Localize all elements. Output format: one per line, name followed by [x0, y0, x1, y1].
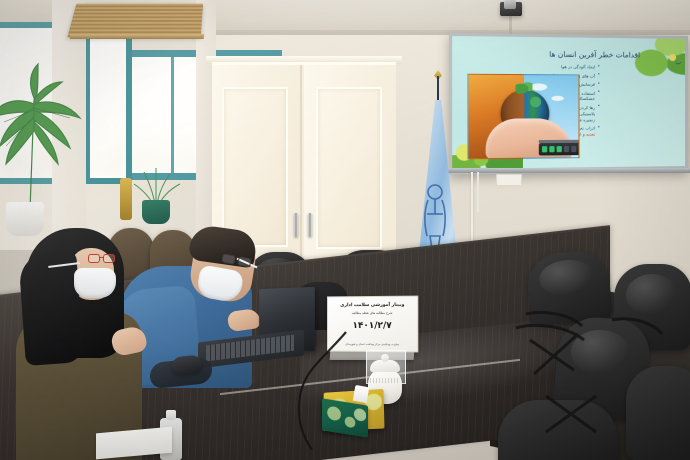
- display-bezel-bottom: [445, 168, 690, 173]
- ceramic-jar-knob: [381, 354, 389, 362]
- mic-button[interactable]: [542, 146, 547, 152]
- chat-button[interactable]: [571, 146, 576, 152]
- camera-button[interactable]: [549, 146, 554, 152]
- slide-photo-earth-in-hand: [467, 74, 579, 160]
- door-handle-left[interactable]: [294, 213, 298, 237]
- participants-button[interactable]: [564, 146, 569, 152]
- plant-pot-white: [6, 202, 44, 236]
- slide-corner-letter: ب: [675, 59, 681, 66]
- slide-bullet: ایجاد آلودگی در هوا: [508, 64, 600, 71]
- leave-button[interactable]: [578, 146, 579, 152]
- door-panel-left: [222, 87, 288, 247]
- display-cable: [471, 172, 473, 246]
- placard-title: وبینار آموزشی سلامت اداری: [328, 303, 417, 309]
- blinds-rail: [70, 34, 205, 39]
- display-cable-secondary: [477, 172, 479, 212]
- door-panel-right: [316, 87, 382, 249]
- desk-lamp: [120, 178, 132, 220]
- woman-eyeglasses: [88, 254, 116, 263]
- wall-outlet-plate: [496, 174, 522, 186]
- camera-lens-icon: [504, 0, 516, 9]
- plant-pot-green: [142, 200, 170, 224]
- meeting-room-photo: اقدامات خطر آفرین انسان ها ب ایجاد آلودگ…: [0, 0, 690, 460]
- slide-title: اقدامات خطر آفرین انسان ها: [517, 49, 671, 60]
- presentation-slide: اقدامات خطر آفرین انسان ها ب ایجاد آلودگ…: [452, 36, 685, 169]
- slide-sprout-icon: [516, 81, 533, 93]
- window-blinds: [67, 4, 203, 37]
- window-casement-open: [84, 24, 132, 184]
- placard-subtitle: شرح مطالبه های نقطه مطالعه: [328, 311, 417, 315]
- woman-face-mask: [74, 268, 116, 298]
- video-call-toolbar[interactable]: [539, 143, 580, 156]
- share-button[interactable]: [557, 146, 562, 152]
- chair-bases: [500, 300, 690, 460]
- wall-display[interactable]: اقدامات خطر آفرین انسان ها ب ایجاد آلودگ…: [449, 33, 688, 174]
- door-handle-right[interactable]: [308, 213, 312, 237]
- power-cable: [286, 330, 356, 450]
- sanitizer-bottle-neck: [166, 410, 176, 420]
